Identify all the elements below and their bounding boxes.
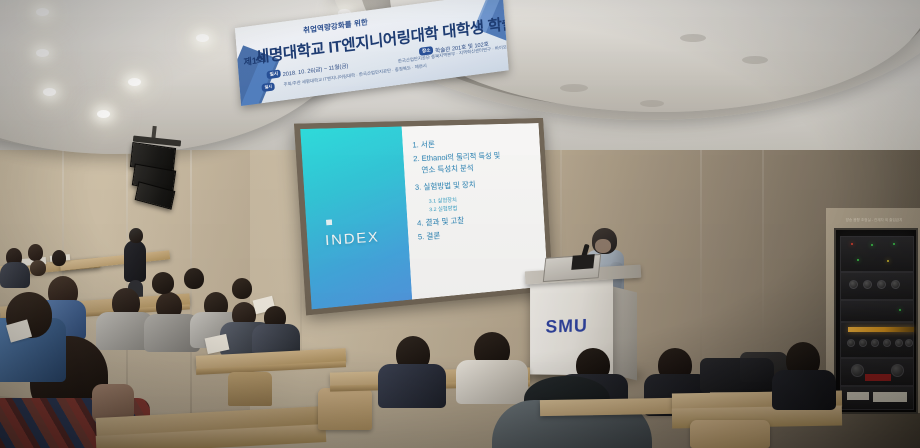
ceiling-downlight [196, 34, 209, 42]
attendee-head [184, 268, 204, 289]
item-text: 서론 [421, 140, 435, 149]
presenter-face [595, 239, 611, 253]
attendee-head [52, 250, 66, 266]
banner-org-chip: 일시 [261, 82, 275, 92]
rack-unit [840, 236, 914, 272]
projected-slide: INDEX 1. 서론 2. Ethanol의 물리적 특성 및 연소 특성치 … [300, 123, 548, 309]
subitem-text: 실험장치 [437, 197, 457, 204]
item-number: 3. [415, 184, 422, 193]
item-text: 결과 및 고찰 [425, 216, 464, 227]
standing-attendee-head [129, 228, 143, 243]
item-text: Ethanol의 물리적 특성 및 [421, 152, 500, 163]
attendee-torso [456, 360, 528, 404]
rack-panel [840, 386, 914, 410]
subitem-number: 3.2 [429, 207, 437, 214]
rack-cd-deck [840, 358, 914, 386]
item-number: 2. [413, 155, 420, 164]
item-number: 5. [418, 233, 425, 242]
lecture-hall-photo: 취업역량강화를 위한 제1회 세명대학교 IT엔지니어링대학 대학생 학술발표대… [0, 0, 920, 448]
ceiling-downlight [36, 8, 49, 16]
attendee-head [30, 260, 46, 276]
seat [318, 388, 372, 430]
attendee-head [232, 278, 252, 299]
level-meter [848, 327, 914, 332]
item-text: 실험방법 및 장치 [423, 181, 476, 192]
standing-attendee-torso [124, 240, 146, 282]
ceiling-downlight [97, 110, 110, 118]
seat [690, 420, 770, 448]
rack-mixer [840, 322, 914, 358]
seat [228, 372, 272, 406]
ceiling-downlight [36, 49, 49, 57]
ceiling-downlight [43, 88, 56, 96]
rack-sign: 방송 음향 조정실 - 관계자 외 출입금지 [836, 218, 912, 223]
subitem-text: 실험방법 [438, 205, 458, 212]
bullet-square-icon [326, 220, 332, 226]
attendee-torso [0, 262, 30, 288]
rack-unit [840, 272, 914, 300]
slide-index-label: INDEX [325, 229, 380, 249]
item-text: 결론 [426, 232, 440, 241]
attendee-torso [378, 364, 446, 408]
projection-screen: INDEX 1. 서론 2. Ethanol의 물리적 특성 및 연소 특성치 … [294, 118, 553, 315]
slide-title-panel: INDEX [300, 127, 412, 310]
podium-logo: SMU [545, 315, 588, 338]
attendee-head [28, 244, 43, 261]
wall-seam [762, 150, 764, 350]
podium-side [611, 286, 637, 380]
podium-monitor-screen [571, 254, 594, 270]
av-equipment-rack[interactable] [834, 228, 918, 414]
slide-list-item: 1. 서론 [412, 137, 534, 151]
attendee-torso [772, 370, 836, 410]
subitem-number: 3.1 [428, 198, 436, 205]
ceiling-downlight [128, 78, 141, 86]
attendee-head [152, 272, 174, 294]
item-number: 1. [412, 141, 419, 150]
banner-date-chip: 일시 [266, 69, 281, 79]
rack-unit [840, 300, 914, 322]
item-number: 4. [417, 219, 424, 228]
